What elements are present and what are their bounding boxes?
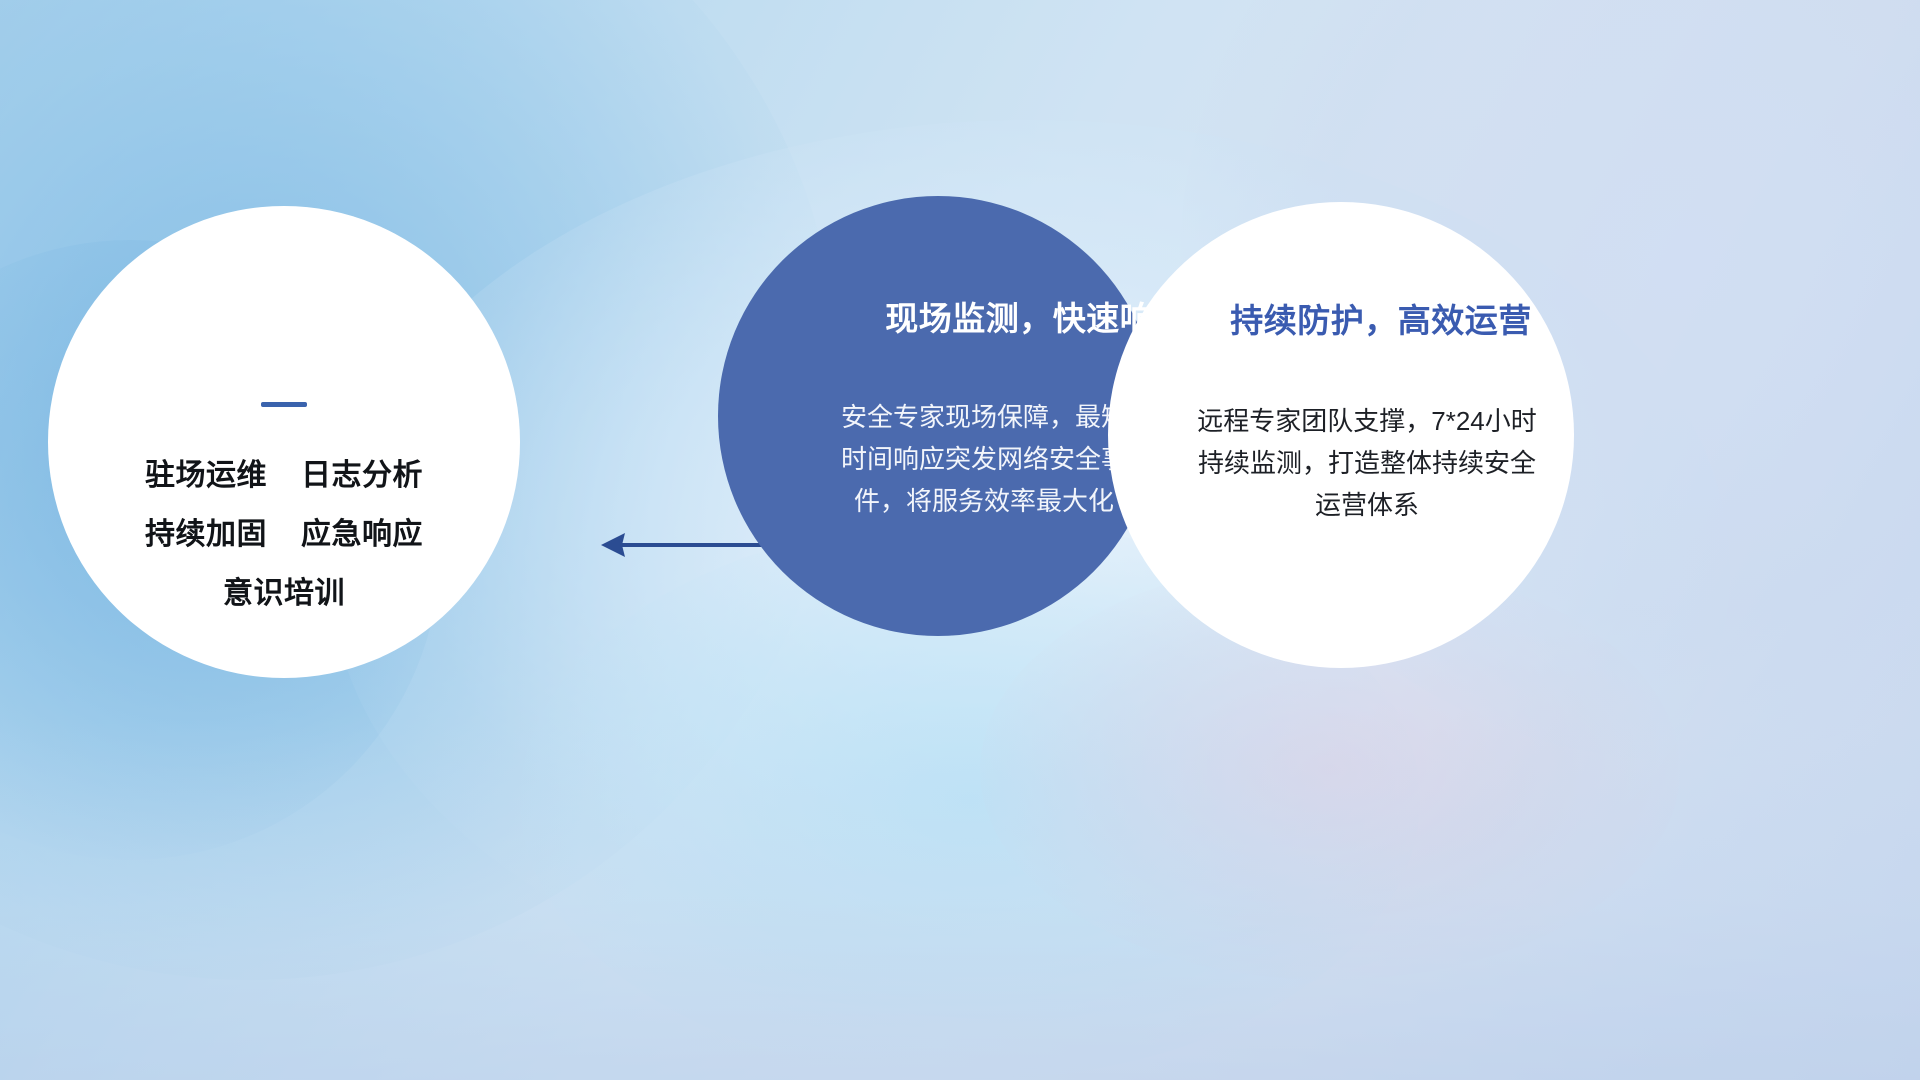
capability-tag: 持续加固 <box>145 518 267 551</box>
capability-tag-list: 驻场运维日志分析 持续加固应急响应 意识培训 <box>145 447 423 623</box>
background-bottom-wash <box>0 720 1920 1080</box>
capability-row: 意识培训 <box>145 565 423 624</box>
capability-tag: 驻场运维 <box>145 459 267 492</box>
left-capability-circle: 驻场运维日志分析 持续加固应急响应 意识培训 <box>48 206 520 678</box>
divider-rule <box>261 402 307 407</box>
capability-row: 持续加固应急响应 <box>145 506 423 565</box>
capability-row: 驻场运维日志分析 <box>145 447 423 506</box>
onsite-monitoring-body: 安全专家现场保障，最短时间响应突发网络安全事件，将服务效率最大化 <box>837 396 1131 522</box>
continuous-protection-circle: 持续防护，高效运营 远程专家团队支撑，7*24小时持续监测，打造整体持续安全运营… <box>1108 202 1574 668</box>
capability-tag: 日志分析 <box>301 459 423 492</box>
onsite-monitoring-circle: 现场监测，快速响应 安全专家现场保障，最短时间响应突发网络安全事件，将服务效率最… <box>718 196 1158 636</box>
capability-tag: 应急响应 <box>301 518 423 551</box>
slide-canvas: 驻场运维日志分析 持续加固应急响应 意识培训 现场监测，快速响应 安全专家现场保… <box>0 0 1920 1080</box>
capability-tag: 意识培训 <box>223 577 345 610</box>
continuous-protection-body: 远程专家团队支撑，7*24小时持续监测，打造整体持续安全运营体系 <box>1186 400 1548 526</box>
continuous-protection-title: 持续防护，高效运营 <box>1230 294 1532 342</box>
